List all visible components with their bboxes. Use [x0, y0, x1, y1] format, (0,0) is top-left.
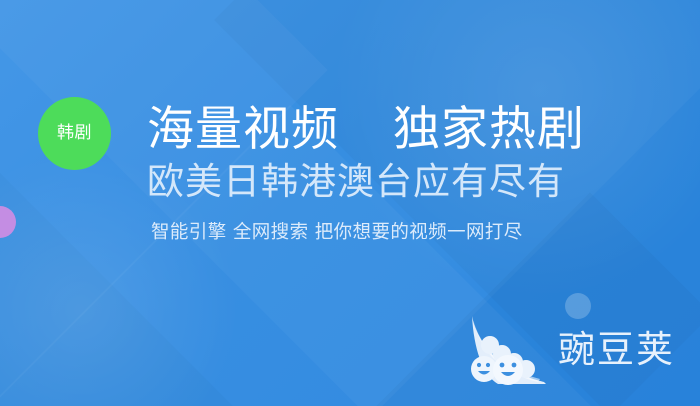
- headline-part-2: 独家热剧: [393, 102, 585, 157]
- promo-banner: 韩剧 海量视频 独家热剧 欧美日韩港澳台应有尽有 智能引擎 全网搜索 把你想要的…: [0, 0, 700, 406]
- purple-circle-decoration: [0, 206, 16, 238]
- pea-pod-icon: [468, 312, 552, 392]
- brand-name: 豌豆荚: [558, 331, 675, 368]
- brand-lockup[interactable]: 豌豆荚: [468, 312, 675, 392]
- copy-block: 海量视频 独家热剧 欧美日韩港澳台应有尽有 智能引擎 全网搜索 把你想要的视频一…: [147, 104, 617, 245]
- category-badge[interactable]: 韩剧: [38, 97, 111, 170]
- tagline: 智能引擎 全网搜索 把你想要的视频一网打尽: [151, 221, 617, 245]
- category-badge-label: 韩剧: [57, 125, 92, 142]
- headline: 海量视频 独家热剧: [147, 104, 617, 157]
- headline-part-1: 海量视频: [147, 102, 339, 157]
- subheadline: 欧美日韩港澳台应有尽有: [147, 161, 617, 204]
